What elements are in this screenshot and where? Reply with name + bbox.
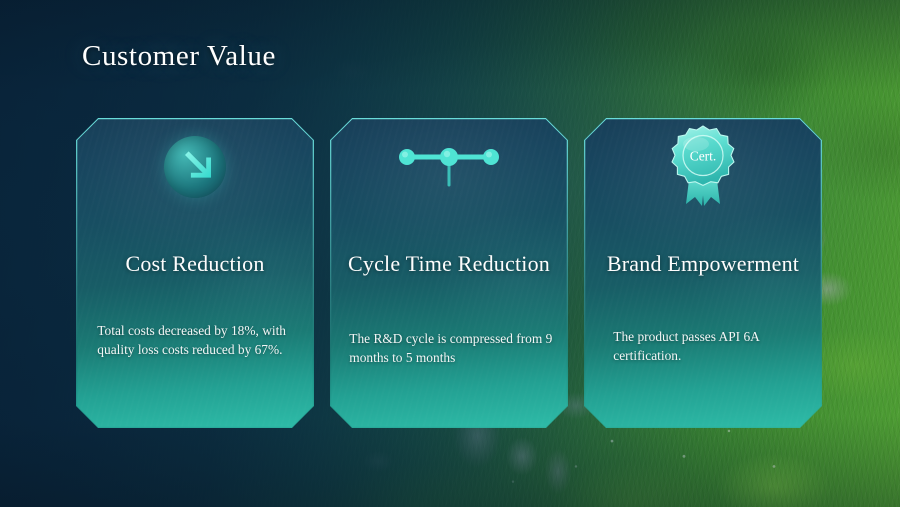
certificate-badge-icon: Cert. [662, 122, 744, 212]
card-content: Cert. Brand Empowerment The product pass… [585, 119, 820, 426]
card-brand-empowerment[interactable]: Cert. Brand Empowerment The product pass… [584, 118, 822, 428]
card-heading: Cycle Time Reduction [348, 251, 550, 277]
card-body-text: The product passes API 6A certification. [599, 327, 806, 365]
slide: Customer Value [0, 0, 900, 507]
card-content: Cost Reduction Total costs decreased by … [77, 119, 312, 426]
card-group: Cost Reduction Total costs decreased by … [76, 118, 822, 428]
card-heading: Cost Reduction [125, 251, 264, 277]
badge-label: Cert. [690, 149, 717, 164]
card-cycle-time-reduction[interactable]: Cycle Time Reduction The R&D cycle is co… [330, 118, 568, 428]
card-heading: Brand Empowerment [607, 251, 799, 277]
card-icon-slot: Cert. [585, 119, 820, 215]
card-body-text: The R&D cycle is compressed from 9 month… [345, 329, 552, 367]
card-icon-slot [77, 119, 312, 215]
arrow-down-right-circle-icon [164, 136, 226, 198]
timeline-milestones-icon [393, 139, 505, 195]
card-body-text: Total costs decreased by 18%, with quali… [91, 321, 298, 359]
card-icon-slot [331, 119, 566, 215]
card-cost-reduction[interactable]: Cost Reduction Total costs decreased by … [76, 118, 314, 428]
card-content: Cycle Time Reduction The R&D cycle is co… [331, 119, 566, 426]
arrow-down-right-glyph [175, 147, 215, 187]
page-title: Customer Value [82, 40, 276, 73]
